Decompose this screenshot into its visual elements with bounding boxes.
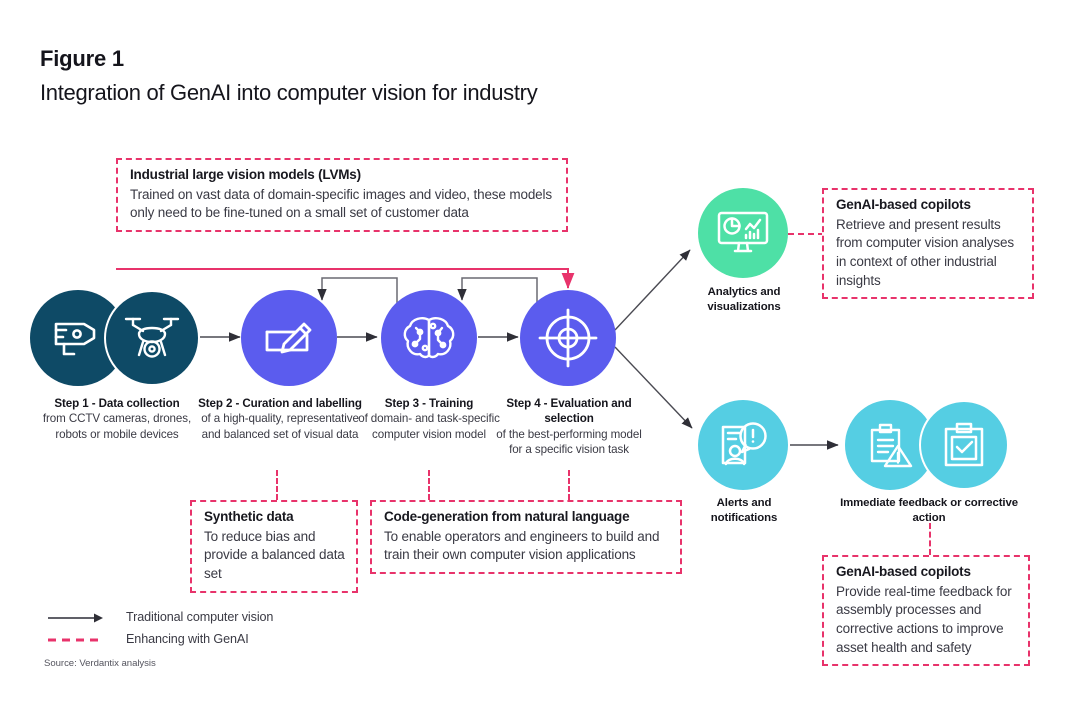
step1-caption: Step 1 - Data collection from CCTV camer… bbox=[28, 396, 206, 442]
step3-circle bbox=[381, 290, 477, 386]
outcome-circle-feedback-check bbox=[919, 400, 1009, 490]
step2-circle bbox=[241, 290, 337, 386]
callout-copilot-bottom-body: Provide real-time feedback for assembly … bbox=[836, 583, 1018, 658]
monitor-chart-icon bbox=[715, 208, 771, 258]
outcome-circle-analytics bbox=[698, 188, 788, 278]
target-crosshair-icon bbox=[537, 307, 599, 369]
figure-label: Figure 1 bbox=[40, 46, 124, 72]
step1-body: from CCTV cameras, drones, robots or mob… bbox=[43, 412, 191, 440]
legend-traditional-label: Traditional computer vision bbox=[126, 610, 273, 624]
legend-dashed-line-icon bbox=[48, 633, 106, 645]
callout-lvm: Industrial large vision models (LVMs) Tr… bbox=[116, 158, 568, 232]
callout-copilot-top-title: GenAI-based copilots bbox=[836, 196, 1022, 215]
branch-arrow-step4-analytics bbox=[615, 250, 690, 330]
legend-item-traditional: Traditional computer vision bbox=[48, 606, 273, 628]
callout-code-body: To enable operators and engineers to bui… bbox=[384, 528, 670, 565]
outcome-analytics-text: Analytics and visualizations bbox=[707, 286, 780, 313]
callout-lvm-body: Trained on vast data of domain-specific … bbox=[130, 186, 556, 223]
legend-solid-arrow-icon bbox=[48, 611, 106, 623]
step3-title: Step 3 - Training bbox=[350, 396, 508, 411]
outcome-feedback-text: Immediate feedback or corrective action bbox=[840, 497, 1018, 524]
clipboard-warning-icon bbox=[863, 419, 917, 471]
legend: Traditional computer vision Enhancing wi… bbox=[48, 606, 273, 650]
step4-body: of the best-performing model for a speci… bbox=[496, 428, 641, 456]
legend-genai-label: Enhancing with GenAI bbox=[126, 632, 249, 646]
drone-icon bbox=[121, 312, 183, 364]
step4-title: Step 4 - Evaluation and selection bbox=[492, 396, 646, 427]
genai-connector-step4 bbox=[568, 470, 570, 500]
step2-title: Step 2 - Curation and labelling bbox=[196, 396, 364, 411]
step2-body: of a high-quality, representative and ba… bbox=[201, 412, 359, 440]
figure-title: Integration of GenAI into computer visio… bbox=[40, 80, 537, 106]
genai-connector-step2 bbox=[276, 470, 278, 500]
outcome-alerts-label: Alerts and notifications bbox=[688, 496, 800, 527]
outcome-circle-alerts bbox=[698, 400, 788, 490]
callout-copilot-analytics: GenAI-based copilots Retrieve and presen… bbox=[822, 188, 1034, 299]
callout-synthetic-body: To reduce bias and provide a balanced da… bbox=[204, 528, 346, 584]
step1-circle-drone bbox=[104, 290, 200, 386]
step1-title: Step 1 - Data collection bbox=[28, 396, 206, 411]
callout-copilot-feedback: GenAI-based copilots Provide real-time f… bbox=[822, 555, 1030, 666]
legend-item-genai: Enhancing with GenAI bbox=[48, 628, 273, 650]
source-note: Source: Verdantix analysis bbox=[44, 658, 156, 669]
pencil-edit-icon bbox=[260, 314, 318, 362]
step3-caption: Step 3 - Training of domain- and task-sp… bbox=[350, 396, 508, 442]
outcome-analytics-label: Analytics and visualizations bbox=[688, 285, 800, 316]
genai-path-lvm-to-step4 bbox=[116, 269, 568, 288]
figure-canvas: Figure 1 Integration of GenAI into compu… bbox=[0, 0, 1080, 720]
callout-copilot-bottom-title: GenAI-based copilots bbox=[836, 563, 1018, 582]
callout-synthetic-title: Synthetic data bbox=[204, 508, 346, 527]
callout-copilot-top-body: Retrieve and present results from comput… bbox=[836, 216, 1022, 291]
step4-circle bbox=[520, 290, 616, 386]
clipboard-check-icon bbox=[940, 419, 988, 471]
callout-lvm-title: Industrial large vision models (LVMs) bbox=[130, 166, 556, 185]
brain-circuit-icon bbox=[400, 312, 458, 364]
step4-caption: Step 4 - Evaluation and selection of the… bbox=[492, 396, 646, 458]
outcome-feedback-label: Immediate feedback or corrective action bbox=[828, 496, 1030, 527]
cctv-camera-icon bbox=[50, 314, 106, 362]
step3-body: of domain- and task-specific computer vi… bbox=[358, 412, 500, 440]
genai-connector-analytics bbox=[788, 233, 824, 235]
genai-connector-feedback bbox=[929, 523, 931, 555]
alert-notification-icon bbox=[715, 419, 771, 471]
genai-connector-step3 bbox=[428, 470, 430, 500]
callout-code-title: Code-generation from natural language bbox=[384, 508, 670, 527]
callout-code-generation: Code-generation from natural language To… bbox=[370, 500, 682, 574]
step2-caption: Step 2 - Curation and labelling of a hig… bbox=[196, 396, 364, 442]
callout-synthetic-data: Synthetic data To reduce bias and provid… bbox=[190, 500, 358, 593]
outcome-alerts-text: Alerts and notifications bbox=[711, 497, 777, 524]
